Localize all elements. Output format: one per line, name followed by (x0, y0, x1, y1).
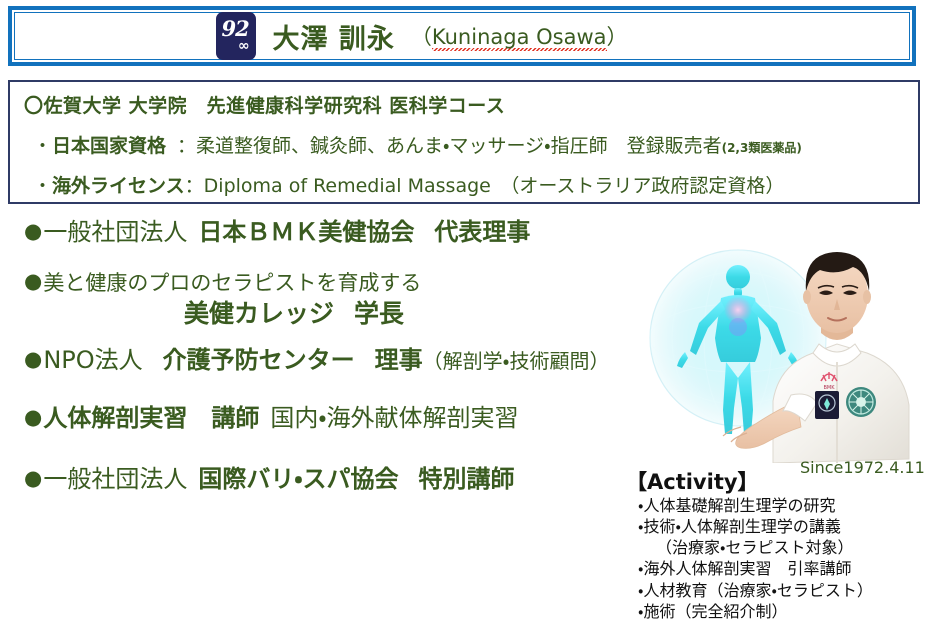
paren-open: （ (411, 25, 432, 49)
role-prefix: 美と健康のプロのセラピストを育成する (43, 271, 421, 295)
page-title-name-jp: 大澤 訓永 (272, 17, 394, 56)
activity-item: ・人体基礎解剖生理学の研究 (638, 495, 926, 516)
role-main: 介護予防センター (163, 346, 355, 374)
activity-item: ・海外人体解剖実習 引率講師 (638, 558, 926, 579)
activity-item: ・人材教育（治療家・セラピスト） (638, 580, 926, 601)
credential-value: 柔道整復師、鍼灸師、あんま・マッサージ・指圧師 登録販売者 (196, 131, 722, 158)
paren-close: ） (607, 25, 628, 49)
activity-item: ・技術・人体解剖生理学の講義 (638, 516, 926, 537)
activity-section: 【Activity】 ・人体基礎解剖生理学の研究 ・技術・人体解剖生理学の講義 … (626, 470, 926, 622)
svg-text:BMK: BMK (823, 385, 835, 391)
credential-label: 日本国家資格 (52, 131, 166, 158)
portrait-photo: BMK (625, 205, 925, 463)
name-romaji-text: Kuninaga Osawa (432, 25, 607, 51)
bullet-icon: ● (24, 219, 42, 243)
bullet-icon: ● (24, 269, 42, 293)
logo-glyph-92: 92 (221, 18, 248, 39)
role-item-bali-spa: ●一般社団法人国際バリ・スパ協会特別講師 (24, 466, 664, 492)
roles-list: ●一般社団法人日本ＢＭＫ美健協会代表理事 ●美と健康のプロのセラピストを育成する… (24, 212, 664, 492)
role-title: 理事 (375, 346, 423, 374)
role-main: 人体解剖実習 講師 (43, 404, 259, 432)
role-main: 日本ＢＭＫ美健協会 (198, 218, 414, 246)
role-main: 国際バリ・スパ協会 (198, 465, 398, 493)
credential-marker: ・ (33, 131, 52, 158)
logo-glyph-infinity: ∞ (238, 39, 250, 53)
credential-separator: ： (177, 131, 196, 158)
bullet-icon: ● (24, 347, 42, 371)
activity-list: ・人体基礎解剖生理学の研究 ・技術・人体解剖生理学の講義 （治療家・セラピスト対… (626, 495, 926, 622)
bullet-icon: ● (24, 405, 42, 429)
credentials-title: 〇佐賀大学 大学院 先進健康科学研究科 医科学コース (24, 91, 904, 118)
name-header-box: 92 ∞ 大澤 訓永 （Kuninaga Osawa） (8, 6, 916, 66)
role-prefix: NPO法人 (43, 346, 142, 374)
role-prefix: 一般社団法人 (43, 218, 187, 246)
credential-value-small: (2,3類医薬品) (722, 139, 802, 156)
role-note: （解剖学・技術顧問） (423, 349, 610, 373)
role-title: 代表理事 (434, 218, 530, 246)
role-item-college-lead: ●美と健康のプロのセラピストを育成する (24, 267, 664, 297)
activity-item: ・施術（完全紹介制） (638, 601, 926, 622)
role-item-anatomy: ●人体解剖実習 講師国内・海外献体解剖実習 (24, 405, 664, 431)
credential-row-domestic: ・ 日本国家資格 ： 柔道整復師、鍼灸師、あんま・マッサージ・指圧師 登録販売者… (24, 131, 904, 158)
credential-value: Diploma of Remedial Massage （オーストラリア政府認定… (204, 171, 785, 198)
role-title: 学長 (354, 299, 404, 328)
credential-marker: ・ (33, 171, 52, 198)
credential-separator: ： (185, 171, 204, 198)
role-prefix: 一般社団法人 (43, 465, 187, 493)
activity-item: （治療家・セラピスト対象） (638, 537, 926, 558)
credentials-box: 〇佐賀大学 大学院 先進健康科学研究科 医科学コース ・ 日本国家資格 ： 柔道… (8, 80, 920, 204)
logo-92-infinity-icon: 92 ∞ (216, 12, 256, 60)
role-note: 国内・海外献体解剖実習 (270, 404, 518, 432)
role-item-bmk: ●一般社団法人日本ＢＭＫ美健協会代表理事 (24, 219, 664, 245)
name-romaji: （Kuninaga Osawa） (411, 21, 628, 51)
role-item-npo: ●NPO法人介護予防センター理事（解剖学・技術顧問） (24, 347, 664, 373)
credential-label: 海外ライセンス (52, 171, 185, 198)
role-item-college: 美健カレッジ学長 (24, 300, 664, 328)
role-main: 美健カレッジ (184, 299, 334, 328)
bullet-icon: ● (24, 466, 42, 490)
role-title: 特別講師 (419, 465, 515, 493)
credential-row-overseas: ・ 海外ライセンス ： Diploma of Remedial Massage … (24, 171, 904, 198)
name-row: 92 ∞ 大澤 訓永 （Kuninaga Osawa） (216, 12, 627, 60)
activity-title: 【Activity】 (626, 470, 926, 494)
